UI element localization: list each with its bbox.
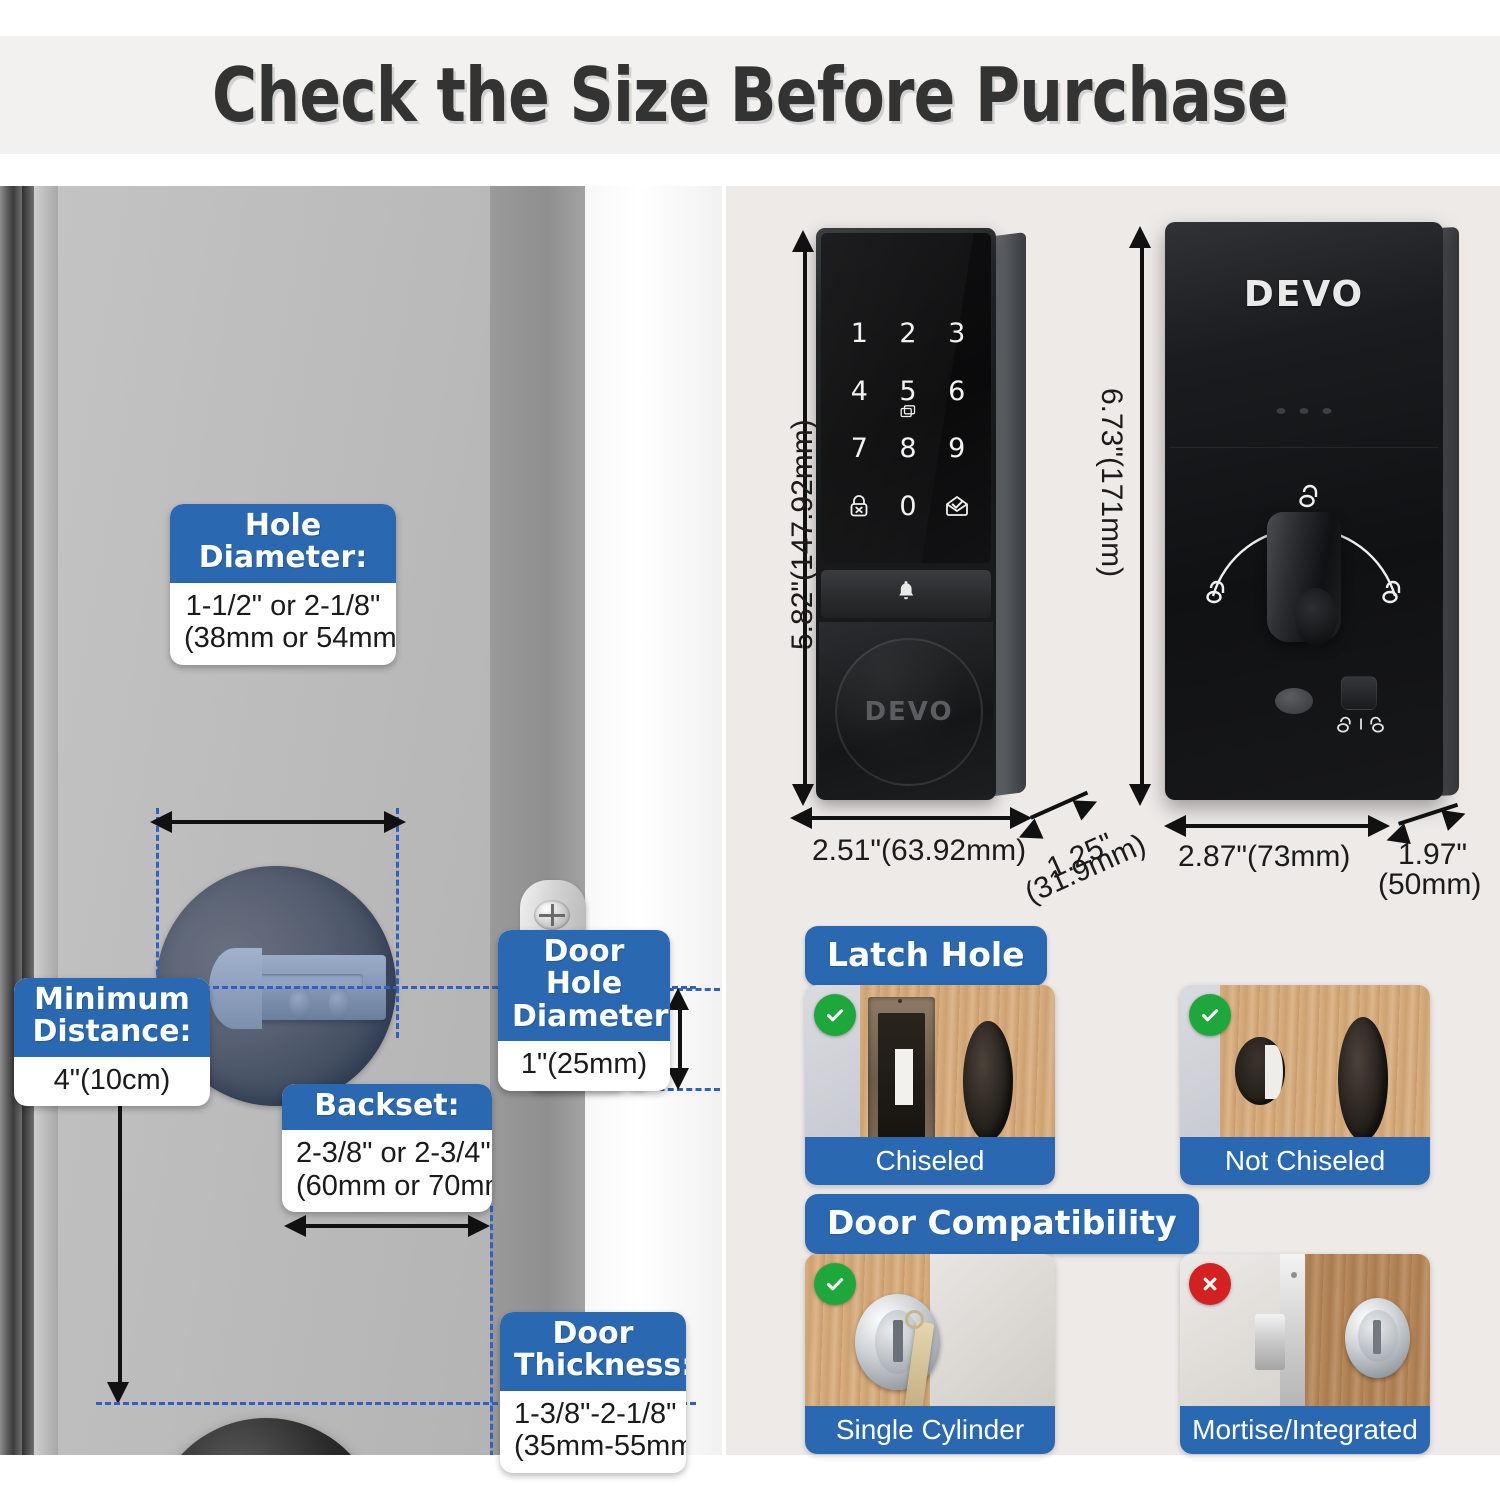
callout-minimum-distance-title: Minimum Distance: [14, 978, 210, 1057]
front-height-label: 5.82"(147.92mm) [786, 419, 820, 650]
key-9[interactable]: 9 [948, 433, 965, 464]
hole-diameter-mm: (38mm or 54mm) [184, 622, 396, 654]
callout-hole-diameter-value: 1-1/2" or 2-1/8" (38mm or 54mm) [170, 583, 396, 665]
compatibility-card-single-cylinder-caption: Single Cylinder [805, 1406, 1055, 1454]
callout-door-thickness-title: Door Thickness: [500, 1312, 686, 1391]
door-thickness-title-2: Thickness: [514, 1348, 686, 1383]
door-thickness-inches: 1-3/8"-2-1/8" [514, 1398, 676, 1430]
front-lock-body: 1 2 3 4 5 6 7 8 9 [816, 228, 1006, 804]
callout-backset: Backset: 2-3/8" or 2-3/4" (60mm or 70mm) [282, 1084, 492, 1212]
min-distance-title-2: Distance: [32, 1014, 191, 1049]
front-width-label: 2.51"(63.92mm) [812, 834, 1026, 868]
door-thickness-title-1: Door [553, 1316, 634, 1351]
door-jamb-edge [34, 186, 58, 1455]
back-height-arrow-top [1129, 226, 1151, 248]
front-lock-side-profile [994, 232, 1026, 796]
door-hole-title-2: Diameter: [512, 999, 670, 1034]
latch-hole-card-chiseled-caption: Chiseled [805, 1137, 1055, 1185]
callout-door-thickness: Door Thickness: 1-3/8"-2-1/8" (35mm-55mm… [500, 1312, 686, 1473]
front-height-arrow-bottom [792, 784, 814, 806]
front-lock-touch-screen: 1 2 3 4 5 6 7 8 9 [821, 233, 991, 563]
compatibility-card-mortise: Mortise/Integrated [1180, 1254, 1430, 1454]
callout-door-hole-value: 1"(25mm) [498, 1041, 670, 1090]
back-width-label: 2.87"(73mm) [1178, 840, 1350, 874]
door-jamb-shadow [0, 186, 22, 1455]
latch-hole-card-not-chiseled-caption: Not Chiseled [1180, 1137, 1430, 1185]
back-brand-label: DEVO [1244, 274, 1364, 315]
status-badge-not-supported [1189, 1263, 1231, 1305]
dim-doorhole-arrow-top [667, 988, 689, 1010]
back-width-arrow-left [1164, 815, 1186, 837]
door-background-wall [585, 186, 722, 1455]
dim-doorhole-line [678, 1000, 682, 1076]
back-depth-label-line1: 1.97" [1398, 838, 1467, 872]
back-lock-body: DEVO [1165, 222, 1457, 802]
infographic-root: Check the Size Before Purchase [0, 0, 1500, 1500]
dim-hole-line [166, 820, 388, 824]
compatibility-card-single-cylinder: Single Cylinder [805, 1254, 1055, 1454]
latch-hole-card-not-chiseled: Not Chiseled [1180, 985, 1430, 1185]
back-lock-face: DEVO [1165, 222, 1443, 800]
dim-hole-arrow-right [384, 811, 406, 833]
front-lock-face: 1 2 3 4 5 6 7 8 9 [816, 228, 996, 800]
door-edge [490, 186, 585, 1455]
battery-hole [1275, 688, 1313, 714]
dim-backset-line [300, 1224, 472, 1228]
backset-mm: (60mm or 70mm) [296, 1170, 492, 1202]
doorbell-strip[interactable] [821, 570, 991, 618]
envelope-check-icon[interactable] [945, 496, 969, 516]
front-width-arrow-left [790, 807, 812, 829]
door-gap [22, 186, 34, 1455]
devo-circle-logo: DEVO [835, 638, 983, 786]
backset-inches: 2-3/8" or 2-3/4" [296, 1137, 491, 1169]
dim-min-distance-arrow-bottom [107, 1382, 129, 1404]
dim-hole-right-extension [396, 808, 399, 1038]
compatibility-card-mortise-caption: Mortise/Integrated [1180, 1406, 1430, 1454]
callout-minimum-distance-value: 4"(10cm) [14, 1057, 210, 1106]
keyhole-glyph [1335, 714, 1387, 739]
key-6[interactable]: 6 [948, 376, 965, 407]
dim-backset-extension [490, 1206, 493, 1455]
min-distance-title-1: Minimum [34, 982, 190, 1017]
back-height-dim-line [1140, 240, 1144, 792]
dim-backset-arrow-right [468, 1215, 490, 1237]
dim-doorhole-arrow-bottom [667, 1068, 689, 1090]
front-brand-label: DEVO [864, 697, 953, 727]
status-badge-ok [814, 1263, 856, 1305]
page-title: Check the Size Before Purchase [212, 51, 1288, 139]
back-height-label: 6.73"(171mm) [1094, 388, 1128, 577]
bell-icon [894, 580, 918, 609]
callout-hole-diameter: Hole Diameter: 1-1/2" or 2-1/8" (38mm or… [170, 504, 396, 665]
front-width-dim-line [806, 816, 1014, 820]
callout-door-hole-diameter: Door Hole Diameter: 1"(25mm) [498, 930, 670, 1091]
latch-hole-title: Latch Hole [805, 926, 1047, 986]
reset-button[interactable] [1341, 676, 1377, 710]
dim-backset-arrow-left [284, 1215, 306, 1237]
callout-minimum-distance: Minimum Distance: 4"(10cm) [14, 978, 210, 1106]
front-height-arrow-top [792, 230, 814, 252]
callout-backset-value: 2-3/8" or 2-3/4" (60mm or 70mm) [282, 1130, 492, 1212]
housing-seam [1169, 447, 1439, 448]
callout-hole-diameter-title: Hole Diameter: [170, 504, 396, 583]
back-depth-label-line2: (50mm) [1378, 868, 1481, 902]
battery-cover-dots [1277, 408, 1332, 414]
callout-door-hole-title: Door Hole Diameter: [498, 930, 670, 1041]
callout-backset-title: Backset: [282, 1084, 492, 1130]
header-banner: Check the Size Before Purchase [0, 36, 1500, 154]
latch-hole-card-chiseled: Chiseled [805, 985, 1055, 1185]
dim-hole-arrow-left [150, 811, 172, 833]
back-height-arrow-bottom [1129, 784, 1151, 806]
back-width-dim-line [1180, 824, 1372, 828]
door-compatibility-title: Door Compatibility [805, 1194, 1199, 1254]
thumbturn-knob[interactable] [1267, 512, 1341, 642]
hole-diameter-inches: 1-1/2" or 2-1/8" [186, 590, 381, 622]
phillips-screw-icon [534, 900, 570, 930]
status-badge-ok [814, 994, 856, 1036]
door-hole-title-1: Door Hole [544, 934, 625, 1001]
front-lock-lower-housing: DEVO [819, 622, 993, 800]
status-badge-ok [1189, 994, 1231, 1036]
callout-door-thickness-value: 1-3/8"-2-1/8" (35mm-55mm) [500, 1391, 686, 1473]
door-measurement-panel [0, 186, 722, 1455]
door-thickness-mm: (35mm-55mm) [514, 1430, 686, 1462]
